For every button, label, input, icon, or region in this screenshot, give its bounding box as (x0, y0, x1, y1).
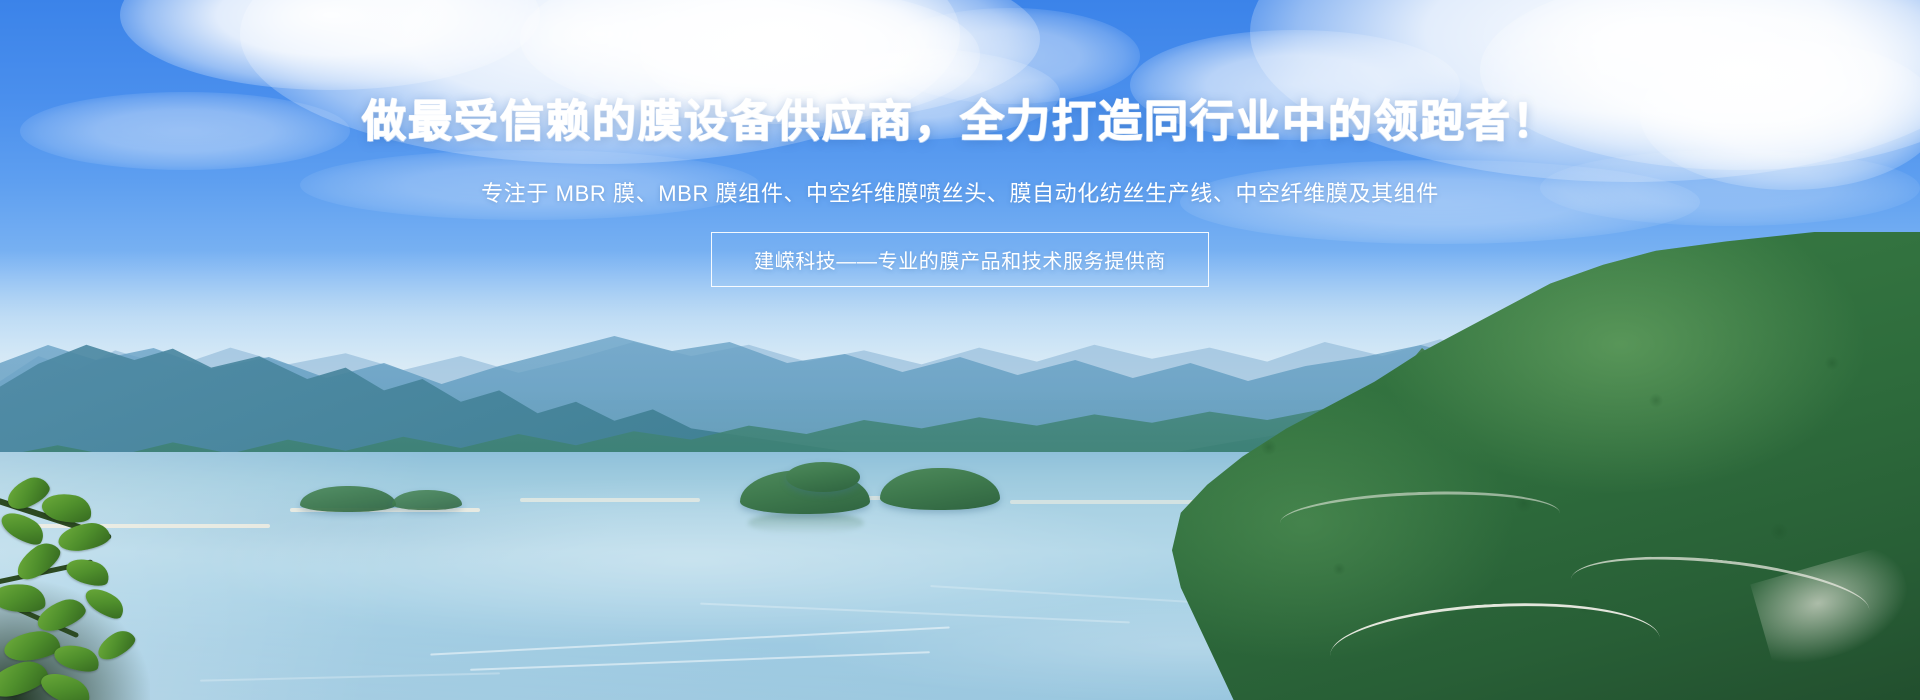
hero-banner: 做最受信赖的膜设备供应商，全力打造同行业中的领跑者！ 专注于 MBR 膜、MBR… (0, 0, 1920, 700)
banner-content: 做最受信赖的膜设备供应商，全力打造同行业中的领跑者！ 专注于 MBR 膜、MBR… (0, 0, 1920, 700)
tagline-box: 建嵘科技——专业的膜产品和技术服务提供商 (711, 232, 1209, 287)
banner-subtitle: 专注于 MBR 膜、MBR 膜组件、中空纤维膜喷丝头、膜自动化纺丝生产线、中空纤… (481, 177, 1439, 210)
banner-headline: 做最受信赖的膜设备供应商，全力打造同行业中的领跑者！ (362, 98, 1558, 146)
tagline-text: 建嵘科技——专业的膜产品和技术服务提供商 (754, 245, 1166, 274)
